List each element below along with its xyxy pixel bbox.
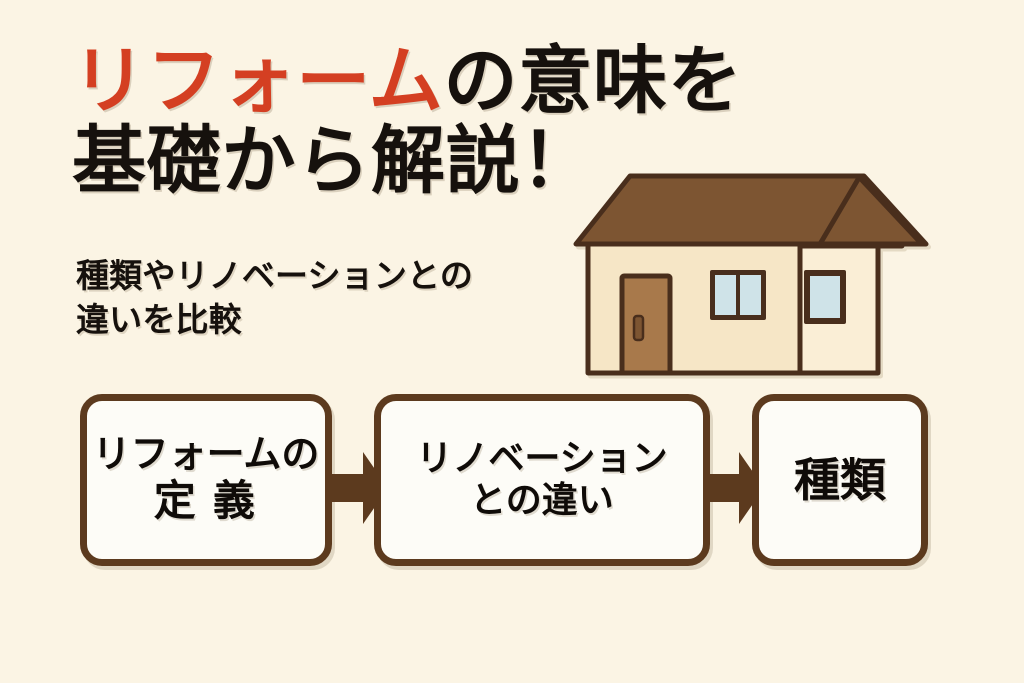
house-window-pane-right <box>740 275 761 315</box>
house-roof-main <box>576 176 860 244</box>
flow-step-1-text: リフォームの 定 義 <box>93 433 320 527</box>
flow-step-1-line-2: 定 義 <box>93 478 320 528</box>
flow-step-2-line-1: リノベーション <box>416 438 667 480</box>
flow-step-3-text: 種類 <box>794 453 886 507</box>
house-door <box>622 276 670 373</box>
flow-step-1-line-1: リフォームの <box>93 433 320 478</box>
poster-canvas: リフォームの意味を 基礎から解説！ 種類やリノベーションとの 違いを比較 <box>0 0 1024 683</box>
headline-accent-word: リフォーム <box>72 41 443 123</box>
house-illustration <box>568 158 968 383</box>
flow-step-2-text: リノベーション との違い <box>416 438 667 523</box>
flow-step-2[interactable]: リノベーション との違い <box>374 394 710 566</box>
page-subtitle: 種類やリノベーションとの 違いを比較 <box>76 254 576 342</box>
flow-step-1[interactable]: リフォームの 定 義 <box>80 394 332 566</box>
house-window-pane-left <box>715 275 736 315</box>
headline-line-1-rest: の意味を <box>443 41 742 123</box>
flow-step-2-line-2: との違い <box>416 480 667 522</box>
house-door-handle <box>634 316 643 340</box>
flow-step-3[interactable]: 種類 <box>752 394 928 566</box>
house-window-pane-single <box>810 276 840 318</box>
subtitle-line-1: 種類やリノベーションとの <box>76 254 576 298</box>
subtitle-line-2: 違いを比較 <box>76 298 576 342</box>
flow-step-3-line-1: 種類 <box>794 453 886 507</box>
headline-line-1: リフォームの意味を <box>72 46 792 126</box>
